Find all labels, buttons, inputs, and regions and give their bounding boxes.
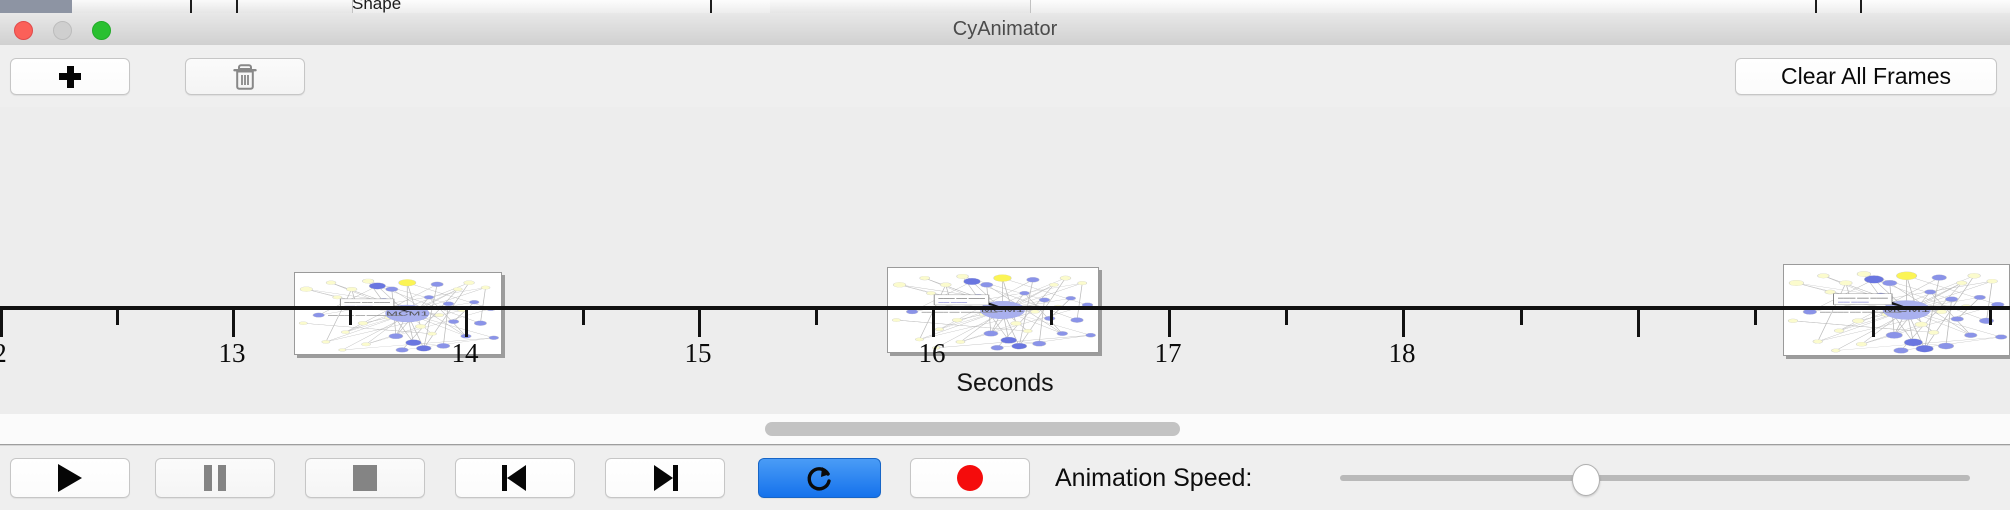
trash-icon	[232, 62, 258, 92]
axis-tick	[1637, 310, 1640, 337]
axis-tick	[1872, 310, 1875, 337]
background-divider	[190, 0, 192, 13]
svg-text:▬▬ ▬▬▬ ▬▬ ▬▬▬▬ ▬▬▬: ▬▬ ▬▬▬ ▬▬ ▬▬▬▬ ▬▬▬	[328, 314, 403, 316]
pause-icon	[204, 465, 226, 491]
axis-tick	[465, 310, 468, 337]
axis-tick	[1520, 310, 1523, 325]
pause-button[interactable]	[155, 458, 275, 498]
timeline-scrollbar-thumb[interactable]	[765, 422, 1180, 436]
skip-back-icon	[502, 465, 528, 491]
background-divider	[236, 0, 238, 13]
svg-text:▬▬ ▬▬▬: ▬▬ ▬▬▬	[938, 301, 968, 304]
axis-tick-label: 15	[685, 338, 712, 369]
skip-to-end-button[interactable]	[605, 458, 725, 498]
stop-icon	[353, 465, 377, 491]
clear-all-frames-label: Clear All Frames	[1781, 63, 1951, 90]
axis-title: Seconds	[0, 369, 2010, 398]
axis-tick-label: 14	[452, 338, 479, 369]
axis-tick	[0, 310, 3, 337]
axis-tick	[1285, 310, 1288, 325]
axis-tick	[815, 310, 818, 325]
axis-tick-label: 13	[219, 338, 246, 369]
playback-control-bar: Animation Speed:	[0, 445, 2010, 510]
frame-thumbnail-3[interactable]: MCM1▬▬▬ ▬▬ ▬▬▬▬▬ ▬▬▬▬▬ ▬▬▬ ▬▬ ▬▬▬▬ ▬▬▬	[1783, 264, 2010, 356]
background-window-selected-cell	[0, 0, 72, 13]
skip-forward-icon	[652, 465, 678, 491]
play-icon	[58, 464, 82, 492]
background-cell	[246, 0, 305, 13]
axis-tick-label: 18	[1389, 338, 1416, 369]
axis-tick-label: 2	[0, 338, 7, 369]
axis-tick-label: 17	[1155, 338, 1182, 369]
background-window-strip: Shape	[0, 0, 2010, 13]
record-icon	[957, 465, 983, 491]
background-divider	[1860, 0, 1862, 13]
play-button[interactable]	[10, 458, 130, 498]
axis-tick	[349, 310, 352, 325]
timeline-panel[interactable]: MCM1▬▬▬ ▬▬ ▬▬▬▬▬ ▬▬▬▬▬ ▬▬▬ ▬▬ ▬▬▬▬ ▬▬▬ M…	[0, 107, 2010, 414]
axis-tick-label: 16	[919, 338, 946, 369]
svg-text:▬▬▬ ▬▬ ▬▬▬: ▬▬▬ ▬▬ ▬▬▬	[938, 297, 986, 300]
svg-text:▬▬▬ ▬▬ ▬▬▬: ▬▬▬ ▬▬ ▬▬▬	[344, 301, 391, 304]
toolbar: Clear All Frames	[0, 45, 2010, 108]
stop-button[interactable]	[305, 458, 425, 498]
background-cell	[304, 0, 353, 13]
background-divider	[1815, 0, 1817, 13]
axis-tick	[1754, 310, 1757, 325]
svg-text:▬▬ ▬▬▬ ▬▬ ▬▬▬▬ ▬▬▬: ▬▬ ▬▬▬ ▬▬ ▬▬▬▬ ▬▬▬	[1820, 311, 1903, 314]
animation-speed-slider[interactable]	[1340, 458, 1970, 498]
axis-tick	[582, 310, 585, 325]
svg-text:▬▬ ▬▬▬: ▬▬ ▬▬▬	[1838, 300, 1869, 303]
loop-button[interactable]	[758, 458, 881, 498]
slider-thumb[interactable]	[1572, 464, 1600, 496]
axis-tick	[1168, 310, 1171, 337]
axis-tick	[932, 310, 935, 337]
axis-tick	[116, 310, 119, 325]
background-window-label: Shape	[352, 0, 401, 13]
add-frame-button[interactable]	[10, 58, 130, 95]
background-divider	[710, 0, 712, 13]
animation-speed-label: Animation Speed:	[1055, 458, 1252, 498]
background-cell	[140, 0, 187, 13]
axis-tick	[1402, 310, 1405, 337]
delete-frame-button[interactable]	[185, 58, 305, 95]
window-title: CyAnimator	[0, 13, 2010, 45]
axis-tick	[1989, 310, 1992, 325]
cyanimator-window: Shape CyAnimator Clear All Frames	[0, 0, 2010, 510]
background-cell	[770, 0, 1031, 13]
background-cell	[72, 0, 141, 13]
axis-tick	[1050, 310, 1053, 325]
plus-icon	[59, 66, 81, 88]
skip-to-start-button[interactable]	[455, 458, 575, 498]
axis-tick	[698, 310, 701, 337]
timeline-axis	[0, 306, 2010, 310]
title-bar: CyAnimator	[0, 13, 2010, 46]
network-graph: MCM1▬▬▬ ▬▬ ▬▬▬▬▬ ▬▬▬▬▬ ▬▬▬ ▬▬ ▬▬▬▬ ▬▬▬	[1784, 265, 2009, 355]
axis-tick	[232, 310, 235, 337]
clear-all-frames-button[interactable]: Clear All Frames	[1735, 58, 1997, 95]
svg-text:▬▬▬ ▬▬ ▬▬▬: ▬▬▬ ▬▬ ▬▬▬	[1838, 296, 1889, 299]
loop-icon	[805, 463, 835, 493]
slider-track[interactable]	[1340, 475, 1970, 481]
record-button[interactable]	[910, 458, 1030, 498]
timeline-scrollbar-track[interactable]	[0, 414, 2010, 445]
